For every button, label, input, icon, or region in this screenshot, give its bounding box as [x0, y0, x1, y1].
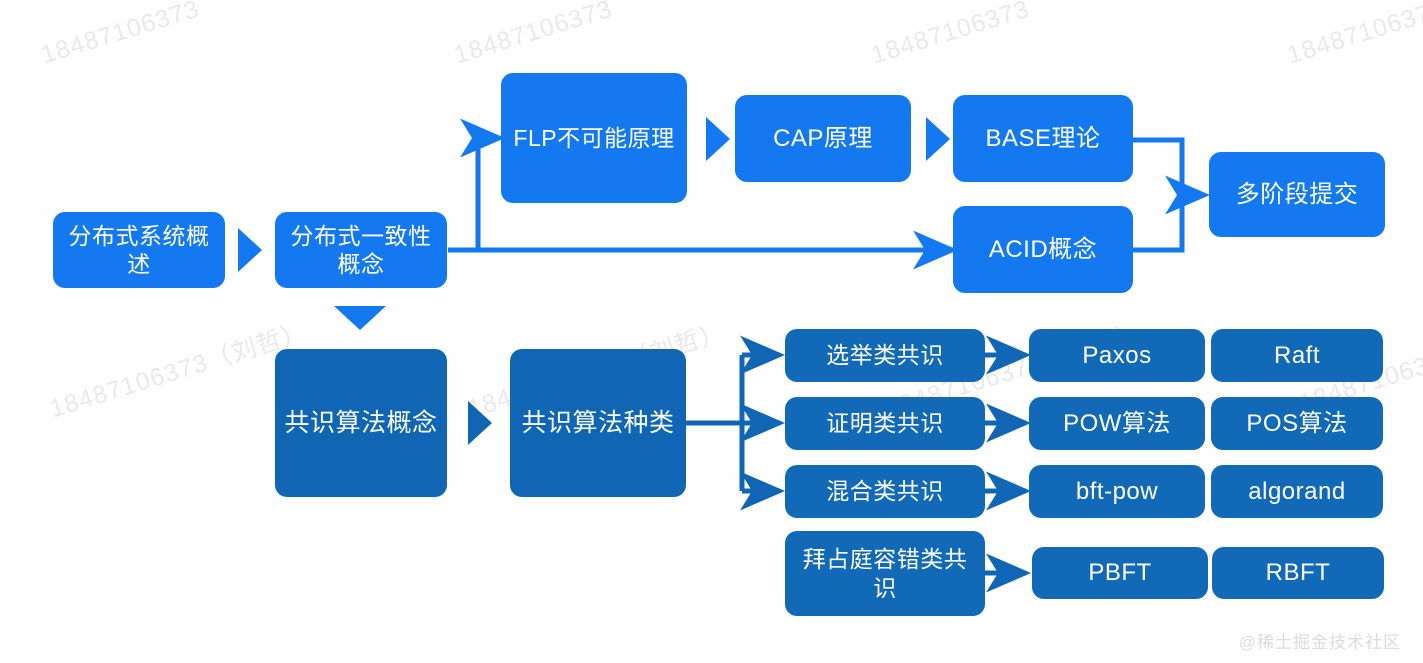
node-category-election[interactable]: 选举类共识 [785, 329, 985, 382]
node-algo-rbft[interactable]: RBFT [1212, 547, 1384, 599]
wire-base-acid-merge [1133, 140, 1182, 250]
node-algo-pow[interactable]: POW算法 [1029, 397, 1205, 450]
watermark-diagonal: 18487106373 [451, 0, 616, 70]
watermark-corner: @稀土掘金技术社区 [1239, 628, 1401, 653]
node-consensus-concept[interactable]: 共识算法概念 [275, 349, 447, 497]
node-base[interactable]: BASE理论 [953, 95, 1133, 182]
chevron-consistency-to-consensus [334, 306, 386, 330]
chevron-overview-to-consistency [238, 228, 262, 272]
watermark-diagonal: 18487106373 [38, 0, 203, 70]
diagram-canvas: 18487106373 18487106373 18487106373 1848… [0, 0, 1423, 663]
chevron-cap-to-base [926, 117, 950, 161]
wire-consistency-to-flp [478, 138, 500, 250]
node-algo-pbft[interactable]: PBFT [1032, 547, 1208, 599]
node-acid[interactable]: ACID概念 [953, 206, 1133, 293]
watermark-diagonal: 18487106373 [868, 0, 1033, 70]
node-category-proof[interactable]: 证明类共识 [785, 397, 985, 450]
node-consensus-types[interactable]: 共识算法种类 [510, 349, 686, 497]
node-category-hybrid[interactable]: 混合类共识 [785, 465, 985, 518]
node-multi-phase-commit[interactable]: 多阶段提交 [1209, 152, 1385, 237]
watermark-diagonal: 18487106373（刘哲） [45, 312, 312, 425]
node-flp[interactable]: FLP不可能原理 [501, 73, 687, 203]
node-overview[interactable]: 分布式系统概述 [53, 212, 225, 288]
node-algo-paxos[interactable]: Paxos [1029, 329, 1205, 382]
chevron-concept-to-types [468, 401, 492, 445]
watermark-diagonal: 18487106373 [1284, 0, 1423, 70]
chevron-flp-to-cap [706, 117, 730, 161]
node-cap[interactable]: CAP原理 [735, 95, 911, 182]
node-algo-bft-pow[interactable]: bft-pow [1029, 465, 1205, 518]
node-consistency[interactable]: 分布式一致性概念 [275, 212, 447, 288]
node-algo-pos[interactable]: POS算法 [1211, 397, 1383, 450]
node-algo-algorand[interactable]: algorand [1211, 465, 1383, 518]
node-category-bft[interactable]: 拜占庭容错类共识 [785, 531, 985, 616]
node-algo-raft[interactable]: Raft [1211, 329, 1383, 382]
